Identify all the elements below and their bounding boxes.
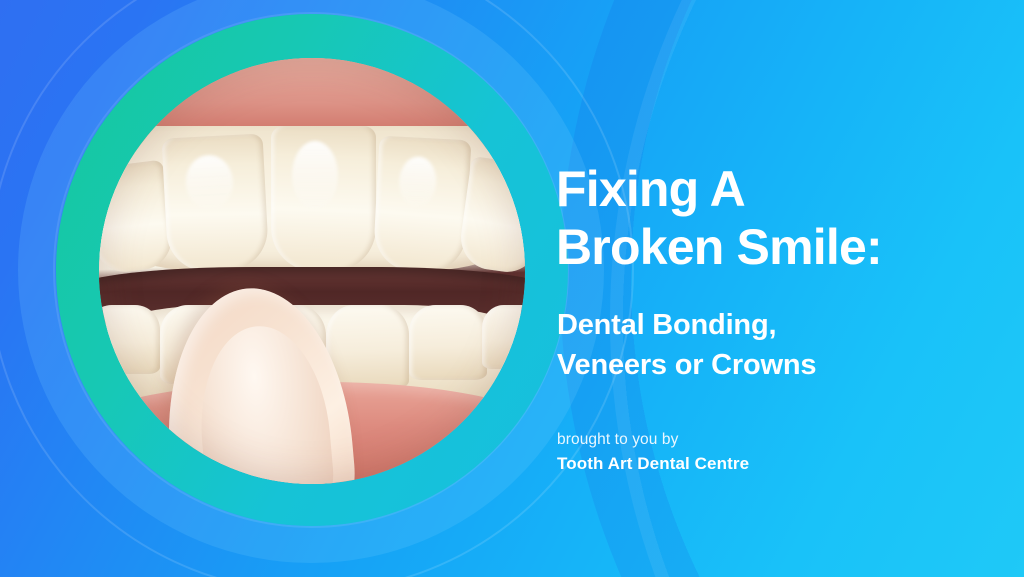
headline-line-2: Broken Smile: bbox=[556, 219, 882, 275]
credit-brand-name: Tooth Art Dental Centre bbox=[557, 451, 977, 477]
credit-block: brought to you by Tooth Art Dental Centr… bbox=[557, 428, 977, 477]
photo-vignette bbox=[99, 58, 525, 484]
subheadline: Dental Bonding,Veneers or Crowns bbox=[557, 306, 1007, 385]
dental-photo-image bbox=[99, 58, 525, 484]
dental-photo-circle bbox=[99, 58, 525, 484]
subheadline-line-1: Dental Bonding, bbox=[557, 309, 776, 341]
headline-line-1: Fixing A bbox=[556, 161, 745, 217]
background-sweep-dark bbox=[560, 0, 1024, 577]
credit-prefix: brought to you by bbox=[557, 428, 977, 451]
subheadline-line-2: Veneers or Crowns bbox=[557, 349, 816, 381]
headline: Fixing ABroken Smile: bbox=[556, 160, 1006, 276]
background-sweep-light bbox=[610, 0, 1024, 577]
promo-banner: Fixing ABroken Smile: Dental Bonding,Ven… bbox=[0, 0, 1024, 577]
